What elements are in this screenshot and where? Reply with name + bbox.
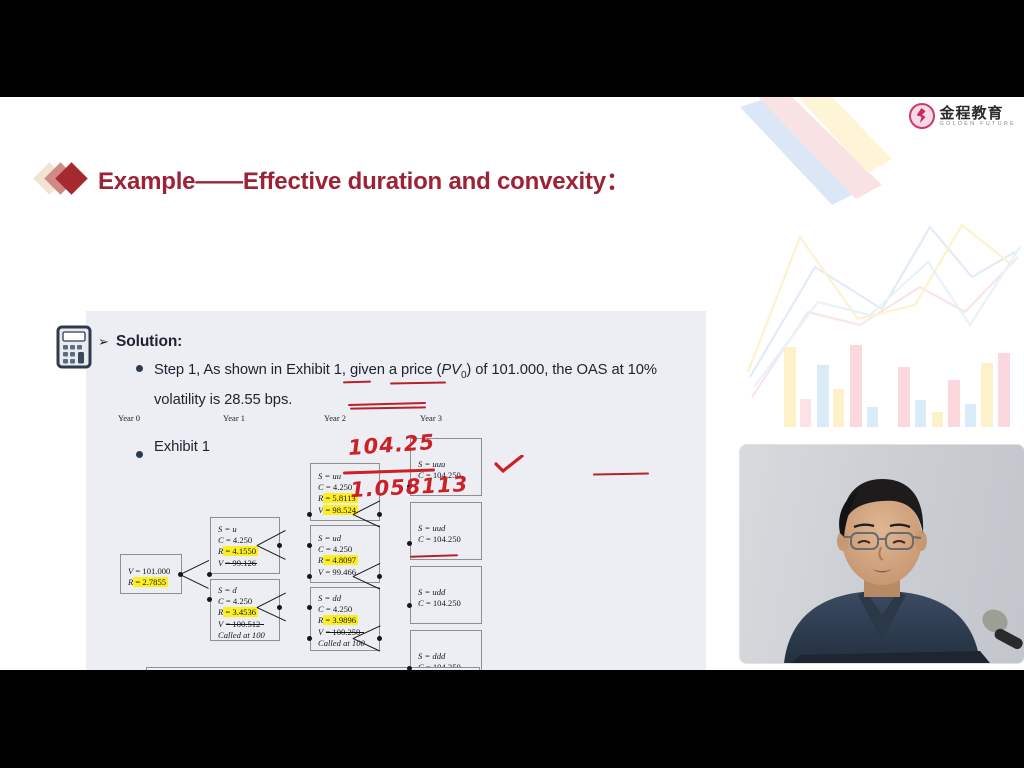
node-value: = uuu [424, 459, 445, 469]
node-symbol: V [318, 627, 323, 637]
node-symbol: S [318, 533, 322, 543]
node-value: = 3.4536 [223, 607, 258, 617]
node-value: = u [224, 524, 236, 534]
node-line: V = 101.000 [128, 566, 170, 577]
tree-connector-dot [207, 572, 212, 577]
brand-logo: 金程教育 GOLDEN FUTURE [909, 103, 1016, 129]
bullet-dot-icon [136, 365, 143, 372]
node-symbol: C [418, 598, 424, 608]
node-value: = 4.250 [226, 535, 252, 545]
tree-connector-dot [307, 543, 312, 548]
slide-title-row: Example——Effective duration and convexit… [38, 157, 728, 199]
tree-connector-dot [307, 636, 312, 641]
tree-connector-dot [407, 484, 412, 489]
diamond-icon [38, 162, 90, 194]
node-symbol: C [218, 596, 224, 606]
step1-before: Step 1, As shown in Exhibit 1, given a p… [154, 362, 441, 378]
calculator-icon [56, 325, 92, 369]
node-value: = 104.250 [426, 598, 461, 608]
right-column: 金程教育 GOLDEN FUTURE [740, 97, 1024, 670]
slide: Example——Effective duration and convexit… [18, 115, 730, 653]
tree-connector-dot [307, 605, 312, 610]
node-symbol: S [218, 524, 222, 534]
node-value: = 4.250 [226, 596, 252, 606]
tree-connector-dot [377, 512, 382, 517]
year-header-1: Year 1 [223, 413, 245, 423]
node-symbol: S [318, 593, 322, 603]
node-value: = ddd [424, 651, 445, 661]
year-header-3: Year 3 [420, 413, 442, 423]
node-line: R = 2.7855 [128, 577, 170, 588]
node-symbol: S [418, 523, 422, 533]
step1-mid: ) of [466, 362, 491, 378]
decorative-chart-graphic [740, 97, 1024, 437]
tree-connector-dot [407, 541, 412, 546]
tree-node-ddd: S = ddd C = 104.250 [410, 630, 482, 670]
node-symbol: V [128, 566, 133, 576]
video-frame: Example——Effective duration and convexit… [0, 97, 1024, 670]
tree-connector-dot [377, 636, 382, 641]
tree-connector-dot [207, 597, 212, 602]
node-value: = 3.9896 [323, 615, 358, 625]
video-stage: Example——Effective duration and convexit… [0, 0, 1024, 768]
tree-connector-dot [377, 574, 382, 579]
node-symbol: S [418, 459, 422, 469]
node-value: = 99.126 [225, 558, 256, 568]
tree-node-dd: S = dd C = 4.250 R = 3.9896 V = 100.250 … [310, 587, 380, 651]
node-value: = 104.250 [426, 470, 461, 480]
logo-english-text: GOLDEN FUTURE [940, 121, 1016, 127]
exhibit-tree: Year 0 Year 1 Year 2 Year 3 [106, 411, 688, 670]
chevron-right-icon: ➢ [98, 334, 109, 350]
node-symbol: S [418, 587, 422, 597]
node-value: = udd [424, 587, 445, 597]
presenter-video[interactable] [740, 445, 1024, 663]
node-symbol: S [318, 471, 322, 481]
node-symbol: V [218, 619, 223, 629]
node-value: = 101.000 [135, 566, 170, 576]
node-value: = 2.7855 [133, 577, 168, 587]
node-symbol: C [318, 482, 324, 492]
tree-node-udd: S = udd C = 104.250 [410, 566, 482, 624]
seal-icon [909, 103, 935, 129]
node-symbol: S [418, 651, 422, 661]
tree-connector-dot [307, 512, 312, 517]
pv-symbol: PV [441, 362, 461, 378]
node-value: = 100.512 [225, 619, 260, 629]
node-value: = 4.250 [326, 604, 352, 614]
node-value: = 4.250 [326, 482, 352, 492]
price-value: 101.000 [491, 362, 544, 378]
tree-node-u: S = u C = 4.250 R = 4.1550 V = 99.126 [210, 517, 280, 574]
oas-value: 28.55 [224, 392, 261, 408]
node-value: Called at 100 [218, 630, 265, 640]
letterbox-bottom [0, 670, 1024, 768]
check-icon [494, 455, 524, 480]
node-value: = 4.250 [326, 544, 352, 554]
tree-connector-dot [277, 605, 282, 610]
year-header-2: Year 2 [324, 413, 346, 423]
tree-connector-dot [407, 603, 412, 608]
tree-connector-dot [178, 572, 183, 577]
node-symbol: V [318, 567, 323, 577]
node-value: = 5.8113 [323, 493, 357, 503]
node-symbol: C [318, 544, 324, 554]
letterbox-top [0, 0, 1024, 97]
node-value: = ud [324, 533, 341, 543]
year-header-0: Year 0 [118, 413, 140, 423]
tree-node-uuu: S = uuu C = 104.250 [410, 438, 482, 496]
node-value: = 4.1550 [223, 546, 258, 556]
node-symbol: V [218, 558, 223, 568]
logo-chinese-text: 金程教育 [940, 106, 1016, 121]
tree-node-ud: S = ud C = 4.250 R = 4.8097 V = 99.466 [310, 525, 380, 583]
step1-text: Step 1, As shown in Exhibit 1, given a p… [154, 358, 684, 413]
node-symbol: C [218, 535, 224, 545]
node-symbol: C [318, 604, 324, 614]
tree-node-d: S = d C = 4.250 R = 3.4536 V = 100.512 C… [210, 579, 280, 641]
solution-label: Solution: [116, 333, 182, 351]
tree-connector-dot [277, 543, 282, 548]
node-value: = 99.466 [325, 567, 356, 577]
node-value: = dd [324, 593, 341, 603]
node-value: = uud [424, 523, 445, 533]
tree-node-root: V = 101.000 R = 2.7855 [120, 554, 182, 594]
tree-connector-dot [307, 574, 312, 579]
tree-node-uud: S = uud C = 104.250 [410, 502, 482, 560]
node-value: = d [224, 585, 236, 595]
node-symbol: S [218, 585, 222, 595]
node-symbol: C [418, 534, 424, 544]
node-value: = 4.8097 [323, 555, 358, 565]
step1-end: bps. [261, 392, 293, 408]
page-title: Example——Effective duration and convexit… [98, 161, 630, 196]
node-value: = uu [324, 471, 341, 481]
node-value: = 100.250 [325, 627, 360, 637]
node-value: = 104.250 [426, 534, 461, 544]
